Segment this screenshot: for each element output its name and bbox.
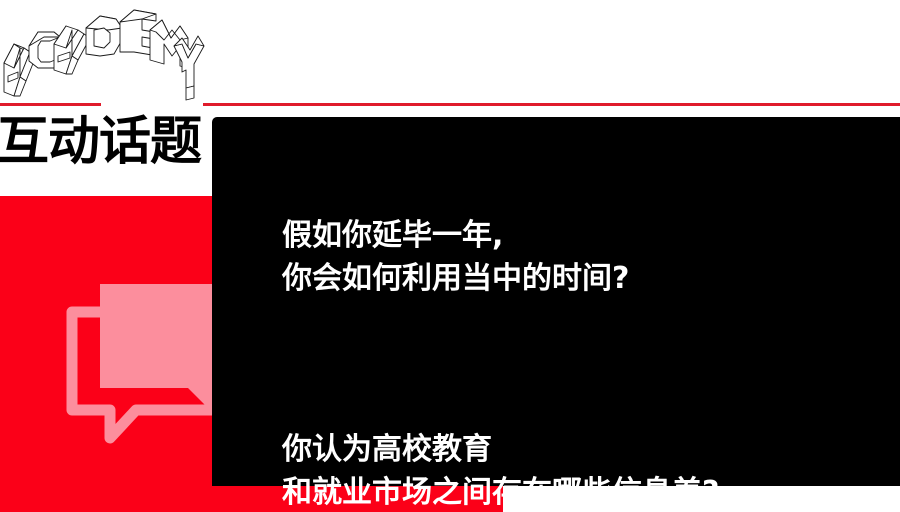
question-text-block: 假如你延毕一年, 你会如何利用当中的时间? 你认为高校教育 和就业市场之间存在哪…	[282, 171, 882, 512]
slide-canvas: 互动话题 假如你延毕一年, 你会如何利用当中的时间? 你认为高校教育 和就业市场…	[0, 0, 900, 512]
academy-wordmark-logo	[0, 6, 211, 106]
question-card: 假如你延毕一年, 你会如何利用当中的时间? 你认为高校教育 和就业市场之间存在哪…	[212, 117, 900, 486]
ellipsis-dot-1	[107, 349, 129, 371]
ellipsis-dot-2	[138, 349, 160, 371]
question-paragraph-1: 假如你延毕一年, 你会如何利用当中的时间?	[282, 214, 882, 300]
question-paragraph-2: 你认为高校教育 和就业市场之间存在哪些信息差?	[282, 428, 882, 512]
accent-rule-right	[203, 103, 900, 106]
paragraph-spacer	[282, 343, 882, 385]
page-title: 互动话题	[0, 113, 201, 171]
academy-letter-D	[86, 16, 122, 56]
ellipsis-dot-3	[169, 349, 191, 371]
academy-letter-Y	[174, 36, 204, 100]
academy-letter-A2	[54, 26, 90, 74]
